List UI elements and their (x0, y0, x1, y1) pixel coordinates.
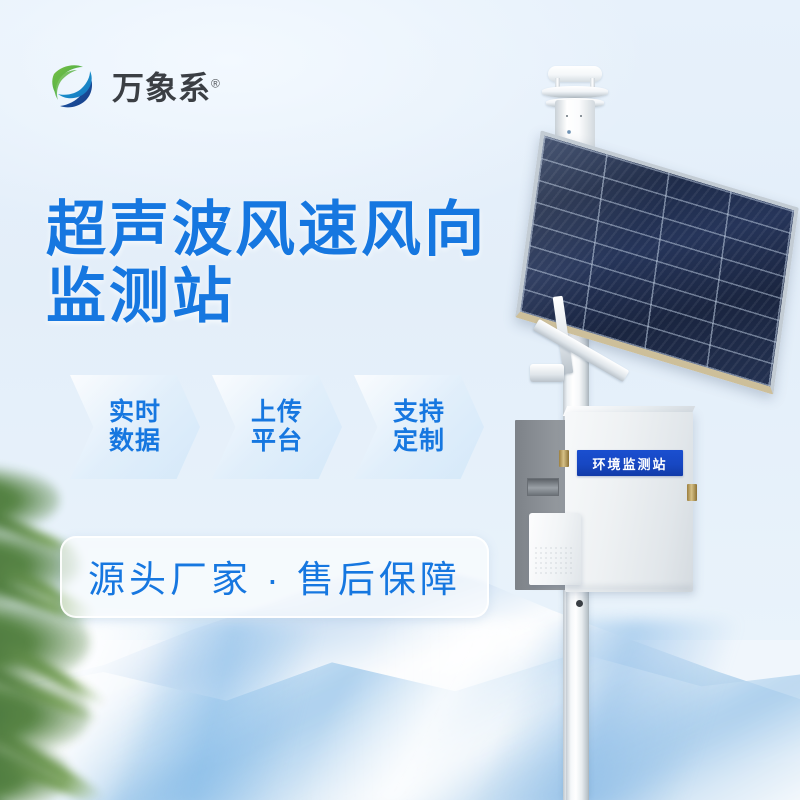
cabinet-front-face (565, 412, 693, 592)
registered-mark: ® (211, 76, 221, 90)
sensor-disc-upper (542, 86, 608, 98)
brand-name: 万象系® (112, 63, 221, 109)
badge-line-2: 定制 (393, 427, 445, 457)
headline-line-1: 超声波风速风向 (46, 196, 487, 263)
feature-badge-realtime-data: 实时 数据 (70, 375, 200, 479)
solar-panel-surface (515, 130, 799, 394)
cabinet-shadow (565, 586, 693, 594)
badge-line-1: 支持 (393, 398, 445, 428)
guarantee-badge: 源头厂家 · 售后保障 (60, 536, 489, 618)
page-title: 超声波风速风向 监测站 (46, 196, 516, 330)
ultrasonic-anemometer-icon (520, 60, 630, 150)
cabinet-vent-module (529, 513, 581, 585)
brand-logo: 万象系® (44, 58, 221, 114)
brand-name-text: 万象系 (112, 70, 211, 106)
enclosure-cabinet-icon: 环境监测站 (515, 398, 715, 598)
cabinet-side-window (527, 478, 559, 496)
cabinet-label-text: 环境监测站 (592, 454, 667, 473)
badge-line-1: 上传 (251, 398, 303, 428)
panel-clamp-lower (530, 364, 564, 382)
headline-line-2: 监测站 (46, 263, 516, 330)
feature-badge-customization: 支持 定制 (354, 375, 484, 479)
cabinet-label-plate: 环境监测站 (577, 450, 683, 476)
pole-bolt (576, 600, 583, 607)
product-poster: 环境监测站 (0, 0, 800, 800)
badge-line-1: 实时 (109, 398, 161, 428)
vent-grid (535, 547, 573, 577)
globe-swirl-icon (44, 58, 100, 114)
feature-badge-list: 实时 数据 上传 平台 支持 定制 (70, 375, 484, 479)
solar-panel-icon (528, 168, 798, 368)
pole-lower-section (566, 590, 588, 800)
cabinet-latch (687, 484, 697, 501)
badge-line-2: 平台 (251, 427, 303, 457)
cabinet-hinge (559, 450, 569, 467)
feature-badge-upload-platform: 上传 平台 (212, 375, 342, 479)
badge-line-2: 数据 (109, 427, 161, 457)
